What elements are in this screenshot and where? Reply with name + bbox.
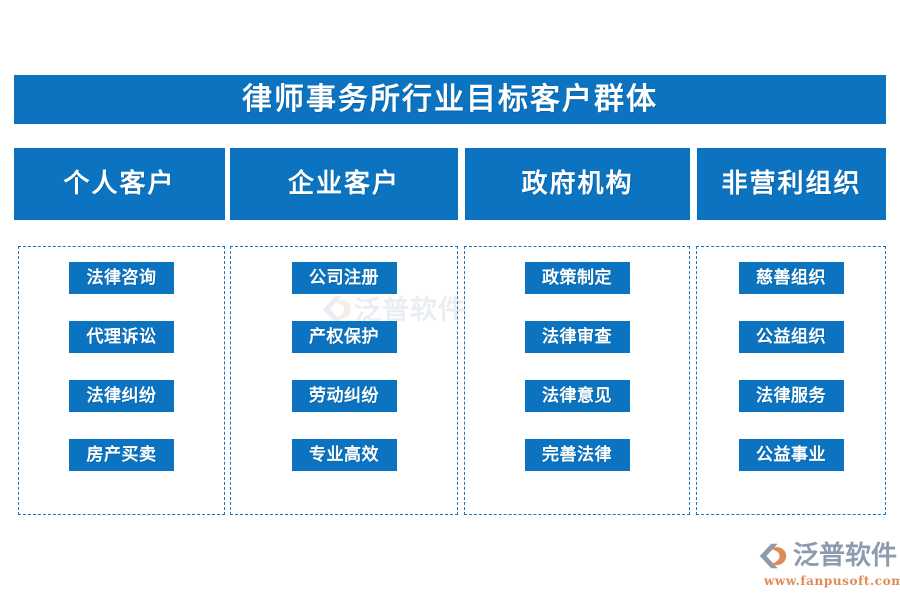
category-header-government[interactable]: 政府机构: [465, 148, 690, 220]
category-header-label: 个人客户: [63, 171, 175, 197]
item-box[interactable]: 产权保护: [292, 321, 397, 353]
item-box[interactable]: 法律意见: [525, 380, 630, 412]
item-columns: 法律咨询 代理诉讼 法律纠纷 房产买卖 公司注册 产权保护: [14, 246, 886, 516]
title-banner: 律师事务所行业目标客户群体: [14, 75, 886, 124]
item-box[interactable]: 法律服务: [739, 380, 844, 412]
item-box[interactable]: 法律纠纷: [69, 380, 174, 412]
item-box[interactable]: 公益事业: [739, 439, 844, 471]
item-box[interactable]: 专业高效: [292, 439, 397, 471]
item-label: 完善法律: [542, 447, 612, 464]
category-header-label: 企业客户: [288, 171, 400, 197]
item-label: 房产买卖: [87, 447, 157, 464]
category-header-label: 政府机构: [521, 171, 633, 197]
category-header-label: 非营利组织: [721, 171, 861, 197]
category-header-personal[interactable]: 个人客户: [14, 148, 225, 220]
item-box[interactable]: 公司注册: [292, 262, 397, 294]
fanpu-logo-mark-icon: [757, 540, 789, 572]
item-box[interactable]: 完善法律: [525, 439, 630, 471]
column-panel-enterprise: 公司注册 产权保护 劳动纠纷 专业高效: [230, 246, 458, 515]
infographic-root: 泛普软件 律师事务所行业目标客户群体 个人客户 企业客户 政府机构 非营利组织 …: [0, 0, 900, 600]
column-panel-personal: 法律咨询 代理诉讼 法律纠纷 房产买卖: [18, 246, 225, 515]
brand-url: www.fanpusoft.com: [764, 574, 900, 588]
column-panel-nonprofit: 慈善组织 公益组织 法律服务 公益事业: [696, 246, 886, 515]
item-label: 公司注册: [309, 270, 379, 287]
item-label: 法律意见: [542, 388, 612, 405]
item-label: 专业高效: [309, 447, 379, 464]
item-box[interactable]: 政策制定: [525, 262, 630, 294]
item-label: 产权保护: [309, 329, 379, 346]
item-label: 法律纠纷: [87, 388, 157, 405]
item-label: 慈善组织: [756, 270, 826, 287]
item-label: 公益组织: [756, 329, 826, 346]
item-box[interactable]: 慈善组织: [739, 262, 844, 294]
item-box[interactable]: 代理诉讼: [69, 321, 174, 353]
item-label: 公益事业: [756, 447, 826, 464]
item-box[interactable]: 房产买卖: [69, 439, 174, 471]
item-box[interactable]: 法律审查: [525, 321, 630, 353]
item-box[interactable]: 劳动纠纷: [292, 380, 397, 412]
item-label: 法律服务: [756, 388, 826, 405]
category-header-nonprofit[interactable]: 非营利组织: [697, 148, 886, 220]
item-box[interactable]: 法律咨询: [69, 262, 174, 294]
item-label: 代理诉讼: [87, 329, 157, 346]
item-box[interactable]: 公益组织: [739, 321, 844, 353]
brand-logo: 泛普软件 www.fanpusoft.com: [757, 540, 892, 592]
item-label: 政策制定: [542, 270, 612, 287]
item-label: 法律审查: [542, 329, 612, 346]
column-panel-government: 政策制定 法律审查 法律意见 完善法律: [464, 246, 690, 515]
brand-name: 泛普软件: [793, 543, 897, 569]
item-label: 法律咨询: [87, 270, 157, 287]
item-label: 劳动纠纷: [309, 388, 379, 405]
category-header-enterprise[interactable]: 企业客户: [230, 148, 458, 220]
category-header-row: 个人客户 企业客户 政府机构 非营利组织: [14, 148, 886, 220]
page-title: 律师事务所行业目标客户群体: [242, 85, 658, 115]
